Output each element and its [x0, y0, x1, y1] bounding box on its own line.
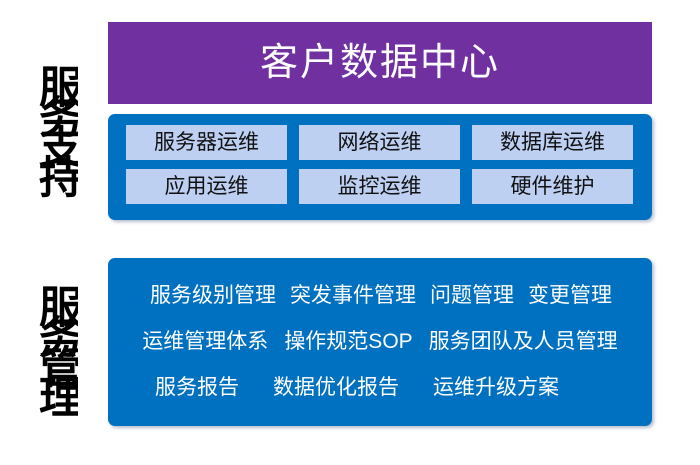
management-row: 服务级别管理 突发事件管理 问题管理 变更管理	[108, 272, 652, 318]
management-item-service-level[interactable]: 服务级别管理	[150, 285, 276, 306]
tile-hardware-maintenance[interactable]: 硬件维护	[472, 169, 633, 204]
header-banner: 客户数据中心	[108, 22, 652, 104]
side-label-service-management: 服务管理	[32, 262, 78, 426]
management-item-ops-system[interactable]: 运维管理体系	[142, 331, 268, 352]
management-row: 服务报告 数据优化报告 运维升级方案	[108, 364, 652, 410]
management-item-data-optimization-report[interactable]: 数据优化报告	[273, 377, 399, 398]
diagram-root: 服务支持 客户数据中心 服务器运维 网络运维 数据库运维 应用运维 监控运维 硬…	[0, 0, 700, 465]
tile-monitoring-ops[interactable]: 监控运维	[299, 169, 460, 204]
management-item-ops-upgrade-plan[interactable]: 运维升级方案	[433, 377, 559, 398]
management-row: 运维管理体系 操作规范SOP 服务团队及人员管理	[108, 318, 652, 364]
side-label-service-support: 服务支持	[32, 36, 78, 212]
tile-database-ops[interactable]: 数据库运维	[472, 125, 633, 160]
service-management-row-list: 服务级别管理 突发事件管理 问题管理 变更管理 运维管理体系 操作规范SOP 服…	[108, 272, 652, 410]
tile-label: 监控运维	[338, 176, 422, 197]
page-title: 客户数据中心	[260, 44, 500, 82]
tile-label: 应用运维	[165, 176, 249, 197]
management-item-problem[interactable]: 问题管理	[430, 285, 514, 306]
management-item-team-personnel[interactable]: 服务团队及人员管理	[429, 331, 618, 352]
tile-network-ops[interactable]: 网络运维	[299, 125, 460, 160]
management-item-change[interactable]: 变更管理	[528, 285, 612, 306]
management-item-service-report[interactable]: 服务报告	[155, 377, 239, 398]
tile-label: 硬件维护	[511, 176, 595, 197]
tile-label: 数据库运维	[500, 132, 605, 153]
tile-application-ops[interactable]: 应用运维	[126, 169, 287, 204]
tile-label: 服务器运维	[154, 132, 259, 153]
service-management-panel: 服务级别管理 突发事件管理 问题管理 变更管理 运维管理体系 操作规范SOP 服…	[108, 258, 652, 426]
management-item-incident[interactable]: 突发事件管理	[290, 285, 416, 306]
service-support-tile-grid: 服务器运维 网络运维 数据库运维 应用运维 监控运维 硬件维护	[126, 125, 634, 204]
tile-label: 网络运维	[338, 132, 422, 153]
tile-server-ops[interactable]: 服务器运维	[126, 125, 287, 160]
management-item-sop[interactable]: 操作规范SOP	[284, 331, 412, 352]
service-support-panel: 服务器运维 网络运维 数据库运维 应用运维 监控运维 硬件维护	[108, 114, 652, 220]
